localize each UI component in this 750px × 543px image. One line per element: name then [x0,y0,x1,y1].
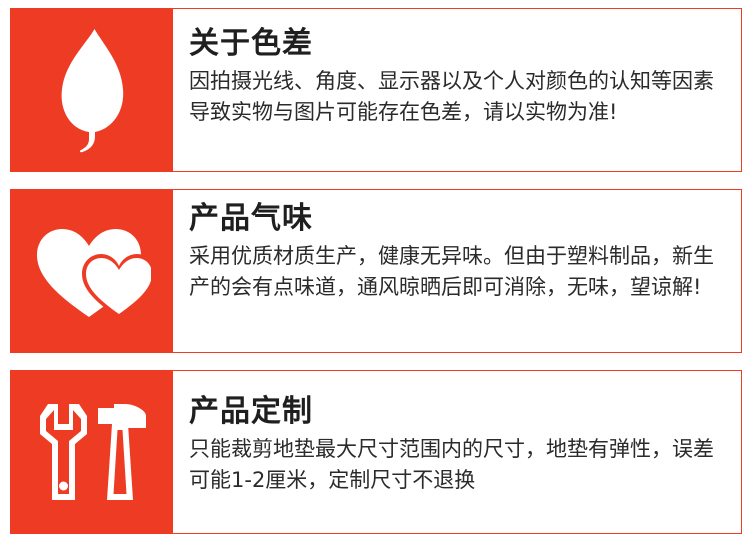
card-body: 只能裁剪地垫最大尺寸范围内的尺寸，地垫有弹性，误差可能1-2厘米，定制尺寸不退换 [189,434,731,496]
card-title: 产品气味 [189,202,731,237]
icon-panel-product-odor [11,190,173,352]
text-panel-product-customization: 产品定制 只能裁剪地垫最大尺寸范围内的尺寸，地垫有弹性，误差可能1-2厘米，定制… [173,371,741,533]
icon-panel-product-customization [11,371,173,533]
product-info-panel: 关于色差 因拍摄光线、角度、显示器以及个人对颜色的认知等因素导致实物与图片可能存… [0,0,750,543]
card-title: 关于色差 [189,27,731,62]
icon-panel-color-difference [11,9,173,171]
text-panel-product-odor: 产品气味 采用优质材质生产，健康无异味。但由于塑料制品，新生产的会有点味道，通风… [173,190,741,352]
text-panel-color-difference: 关于色差 因拍摄光线、角度、显示器以及个人对颜色的认知等因素导致实物与图片可能存… [173,9,741,171]
info-card-color-difference: 关于色差 因拍摄光线、角度、显示器以及个人对颜色的认知等因素导致实物与图片可能存… [10,8,742,172]
leaf-icon [53,27,131,153]
wrench-hammer-icon [32,394,152,510]
card-body: 采用优质材质生产，健康无异味。但由于塑料制品，新生产的会有点味道，通风晾晒后即可… [189,241,731,303]
double-heart-icon [33,219,151,323]
card-title: 产品定制 [189,395,731,430]
card-body: 因拍摄光线、角度、显示器以及个人对颜色的认知等因素导致实物与图片可能存在色差，请… [189,66,731,128]
info-card-product-customization: 产品定制 只能裁剪地垫最大尺寸范围内的尺寸，地垫有弹性，误差可能1-2厘米，定制… [10,370,742,534]
info-card-product-odor: 产品气味 采用优质材质生产，健康无异味。但由于塑料制品，新生产的会有点味道，通风… [10,189,742,353]
